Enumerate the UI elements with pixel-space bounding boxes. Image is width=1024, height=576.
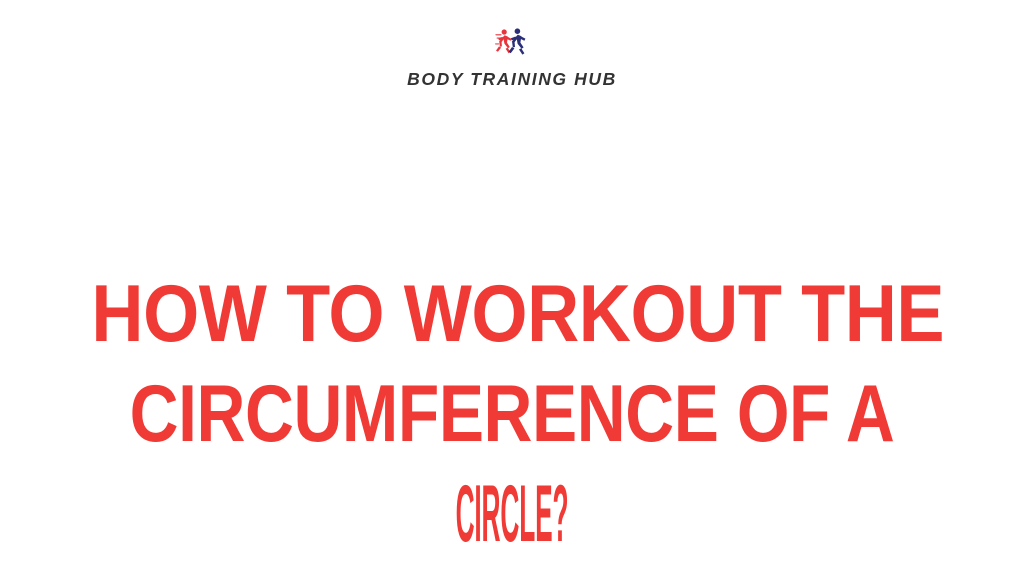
brand-name: BODY TRAINING HUB [407, 70, 617, 89]
brand-header: BODY TRAINING HUB [0, 26, 1024, 89]
two-runners-icon [495, 26, 529, 62]
page-title-line-3: CIRCLE? [359, 464, 666, 564]
page-title: HOW TO WORKOUT THE CIRCUMFERENCE OF A CI… [0, 264, 1024, 564]
page-title-line-1: HOW TO WORKOUT THE [91, 264, 932, 364]
slide-canvas: BODY TRAINING HUB HOW TO WORKOUT THE CIR… [0, 0, 1024, 576]
page-title-line-2: CIRCUMFERENCE OF A [118, 364, 907, 464]
